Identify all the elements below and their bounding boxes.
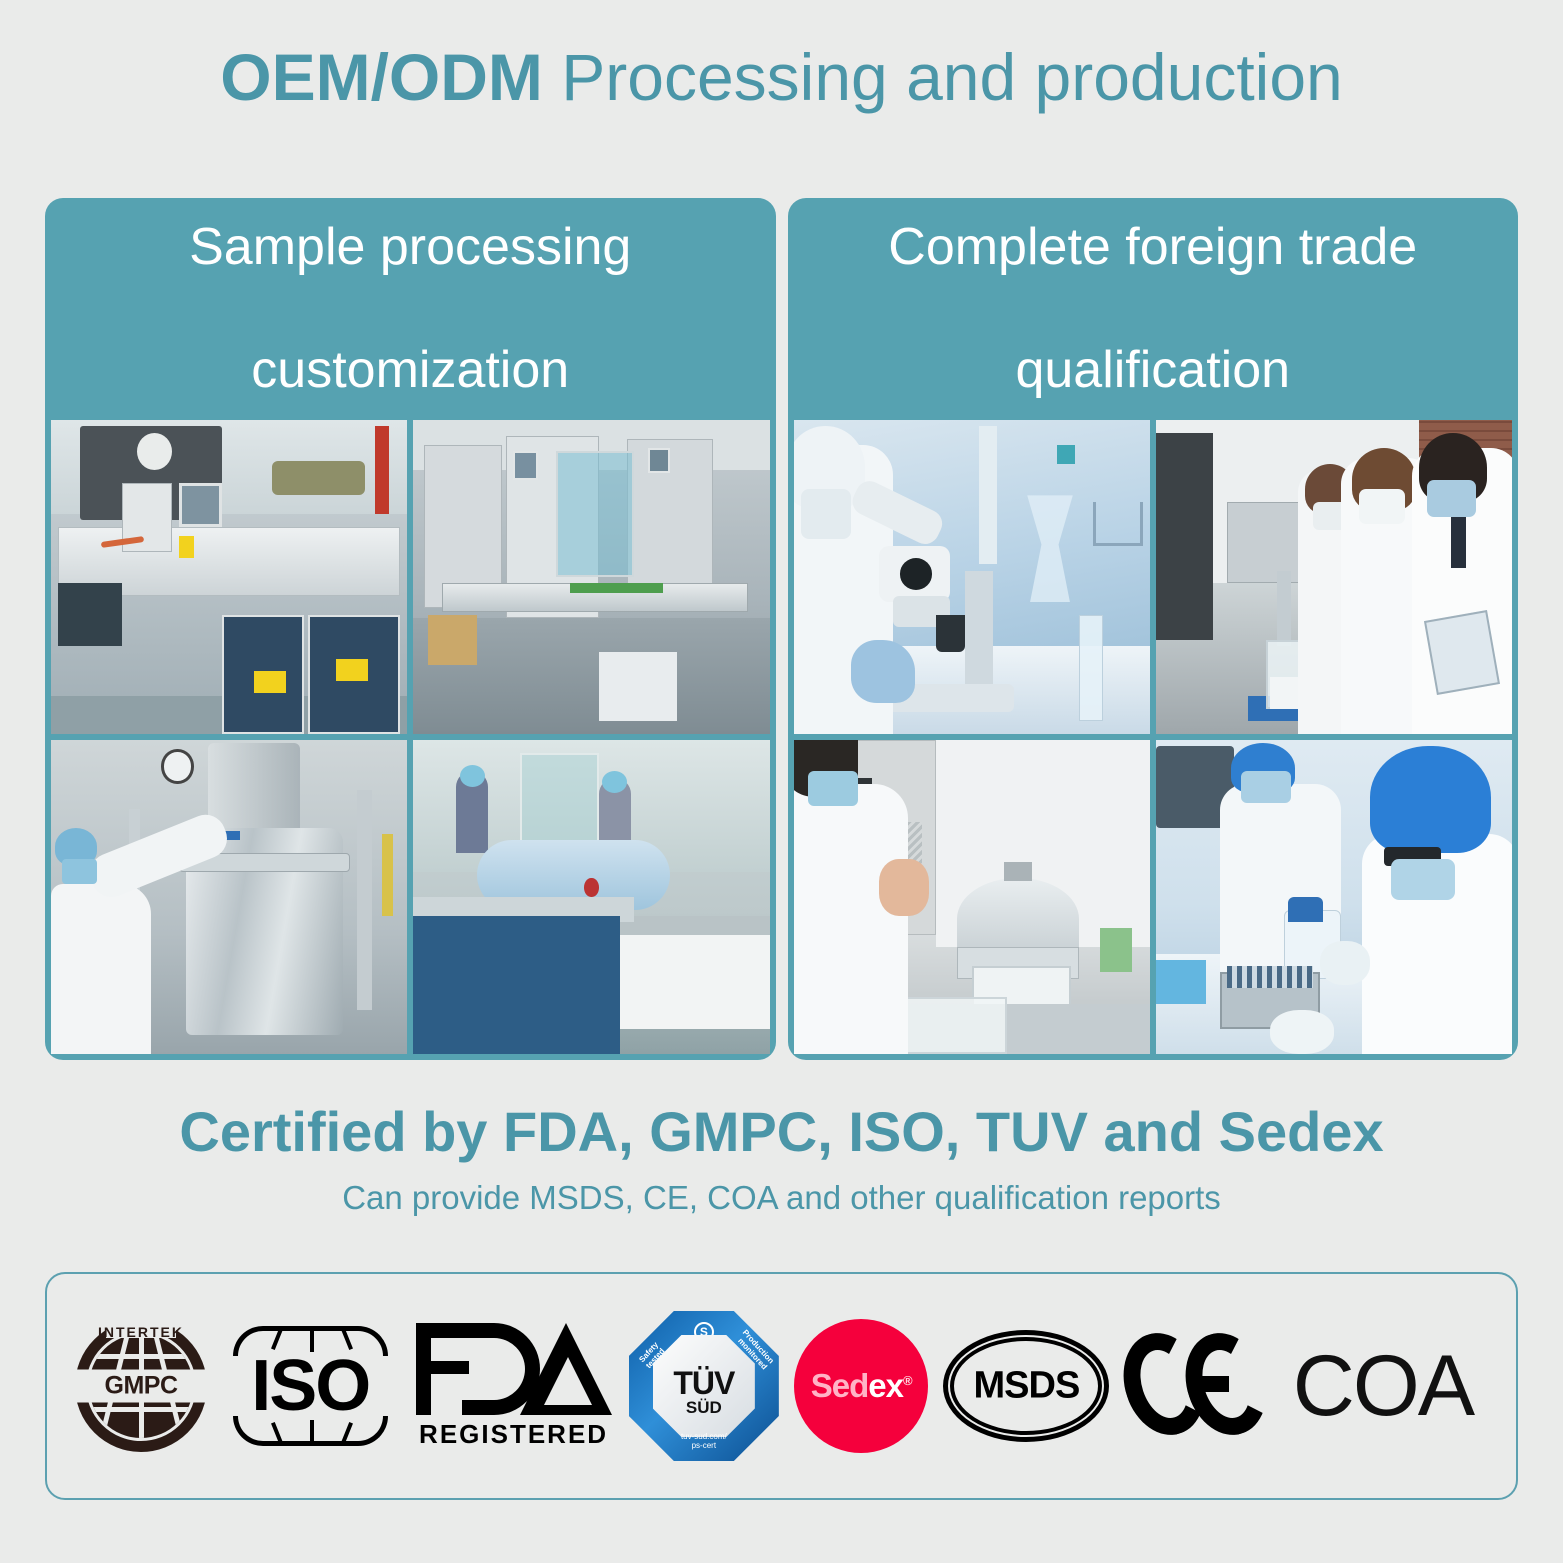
sedex-label-part1: Sed	[811, 1367, 869, 1404]
panels-row: Sample processing customization	[45, 198, 1518, 1060]
fda-registered-logo-icon: REGISTERED	[414, 1316, 614, 1456]
certification-subline: Can provide MSDS, CE, COA and other qual…	[0, 1179, 1563, 1217]
tuv-sud-logo-icon: S Safety tested Production monitored TÜV…	[629, 1311, 779, 1461]
infographic-page: OEM/ODM Processing and production Sample…	[0, 0, 1563, 1563]
photo-reactor-vessel-operator	[51, 740, 407, 1054]
iso-label: ISO	[251, 1350, 369, 1422]
coa-label: COA	[1293, 1343, 1473, 1429]
iso-logo-icon: ISO	[222, 1326, 398, 1446]
panel-sample-processing: Sample processing customization	[45, 198, 776, 1060]
sedex-logo-icon: Sedex®	[794, 1319, 928, 1453]
msds-label: MSDS	[943, 1365, 1109, 1408]
panel-right-heading-line1: Complete foreign trade	[888, 217, 1417, 278]
tuv-sud-label: SÜD	[629, 1398, 779, 1418]
panel-left-photo-grid	[45, 420, 776, 1060]
title-strong: OEM/ODM	[220, 40, 543, 114]
tuv-url-line2: ps-cert	[629, 1442, 779, 1451]
photo-scientist-microscope	[794, 420, 1150, 734]
tuv-label: TÜV	[629, 1365, 779, 1402]
coa-label-logo: COA	[1278, 1334, 1488, 1438]
photo-automatic-packaging-machine	[51, 420, 407, 734]
certification-headline: Certified by FDA, GMPC, ISO, TUV and Sed…	[0, 1098, 1563, 1165]
panel-right-heading-line2: qualification	[888, 340, 1417, 401]
panel-right-photo-grid	[788, 420, 1519, 1060]
sedex-registered-mark: ®	[903, 1373, 912, 1388]
ce-mark-icon	[1125, 1332, 1263, 1440]
msds-logo-icon: MSDS	[943, 1330, 1109, 1442]
photo-lab-workers-tube-rack	[1156, 740, 1512, 1054]
photo-lab-team-homogenizer	[1156, 420, 1512, 734]
panel-left-heading-line1: Sample processing	[189, 217, 631, 278]
photo-technician-desiccator	[794, 740, 1150, 1054]
gmpc-intertek-logo-icon: INTERTEK GMPC	[75, 1320, 207, 1452]
panel-heading-left: Sample processing customization	[45, 198, 776, 420]
photo-filling-machine-line	[413, 420, 769, 734]
sedex-label-part2: ex	[868, 1367, 903, 1404]
certification-text-block: Certified by FDA, GMPC, ISO, TUV and Sed…	[0, 1098, 1563, 1217]
panel-heading-right: Complete foreign trade qualification	[788, 198, 1519, 420]
panel-foreign-trade-qualification: Complete foreign trade qualification	[788, 198, 1519, 1060]
panel-left-heading-line2: customization	[189, 340, 631, 401]
photo-nonwoven-production-line	[413, 740, 769, 1054]
certification-logos-panel: INTERTEK GMPC ISO REGISTERED S Safety te…	[45, 1272, 1518, 1500]
title-rest: Processing and production	[543, 40, 1343, 114]
gmpc-label: GMPC	[75, 1370, 207, 1403]
gmpc-arc-text: INTERTEK	[75, 1324, 207, 1340]
page-title: OEM/ODM Processing and production	[0, 44, 1563, 110]
fda-registered-label: REGISTERED	[419, 1419, 608, 1450]
